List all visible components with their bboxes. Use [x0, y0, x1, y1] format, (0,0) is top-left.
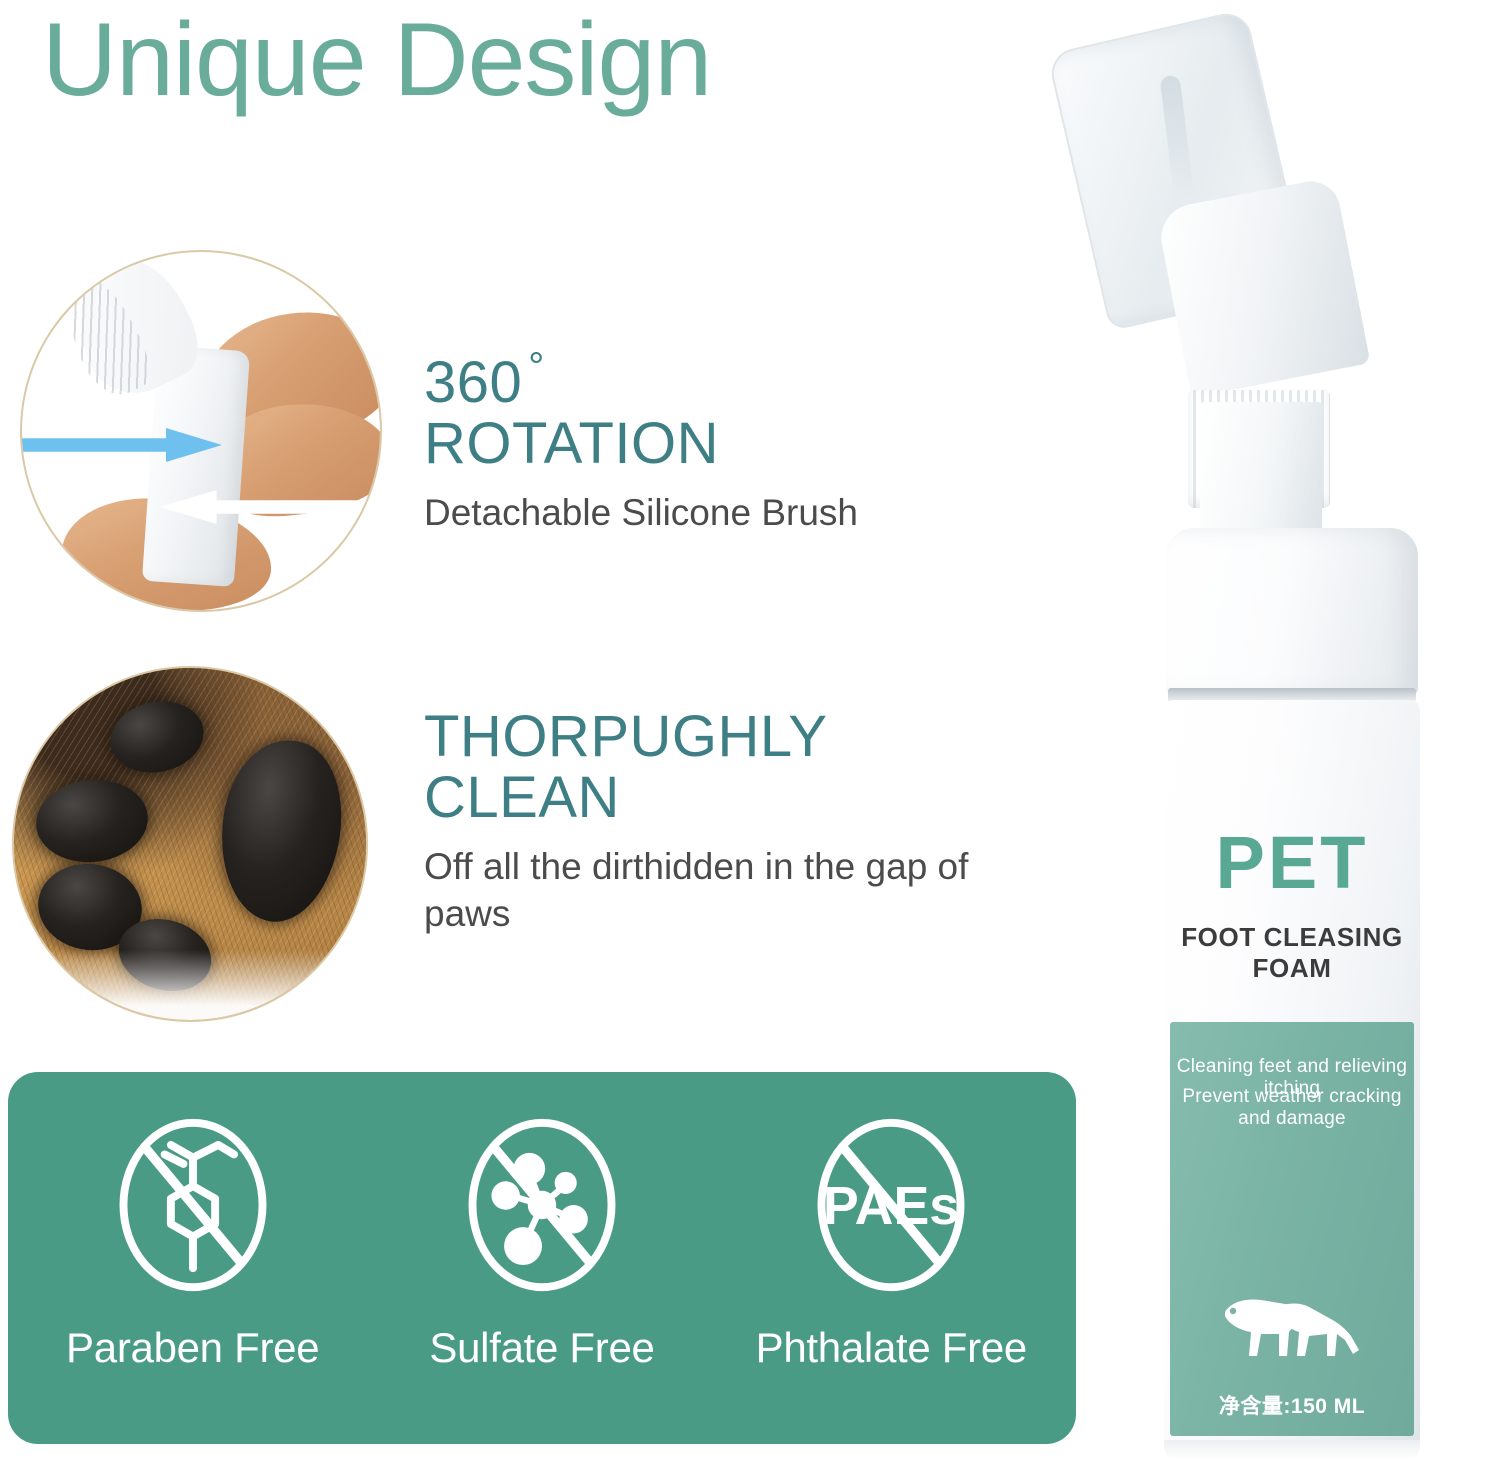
page-title: Unique Design	[42, 8, 711, 112]
no-paes-phthalate-icon: PAEs	[812, 1116, 970, 1294]
no-paraben-icon	[114, 1116, 272, 1294]
feature-rotation-title-line-1: 360	[424, 350, 522, 415]
claim-phthalate-free: PAEs Phthalate Free	[717, 1072, 1066, 1444]
product-bottle: PET FOOT CLEASING FOAM Cleaning feet and…	[1060, 16, 1500, 1460]
no-sulfate-molecule-icon	[463, 1116, 621, 1294]
brand-name: PET	[1164, 820, 1420, 905]
product-marketing-image: Unique Design 360° ROTATION Detachable S…	[0, 0, 1500, 1460]
feature-rotation-title: 360° ROTATION	[424, 346, 1044, 475]
feature-clean: THORPUGHLY CLEAN Off all the dirthidden …	[424, 706, 1044, 938]
brand-subtitle: FOOT CLEASING FOAM	[1164, 922, 1420, 984]
claim-sulfate-free: Sulfate Free	[367, 1072, 716, 1444]
dog-and-cat-silhouette-icon	[1217, 1284, 1367, 1364]
bottle-base	[1164, 1440, 1420, 1460]
feature-rotation: 360° ROTATION Detachable Silicone Brush	[424, 346, 1044, 536]
paw-photo-fade	[14, 950, 366, 1020]
claim-sulfate-free-label: Sulfate Free	[429, 1324, 654, 1372]
feature-clean-title-line-1: THORPUGHLY	[424, 704, 828, 769]
hand-holding-silicone-brush-photo	[22, 252, 380, 610]
feature-clean-description: Off all the dirthidden in the gap of paw…	[424, 843, 1044, 938]
feature-clean-title: THORPUGHLY CLEAN	[424, 706, 1044, 829]
feature-clean-title-line-2: CLEAN	[424, 765, 620, 830]
claim-phthalate-free-label: Phthalate Free	[756, 1324, 1027, 1372]
claim-paraben-free-label: Paraben Free	[66, 1324, 319, 1372]
feature-rotation-title-line-2: ROTATION	[424, 411, 719, 476]
bottle-label: Cleaning feet and relieving itching Prev…	[1170, 1022, 1414, 1436]
dog-paw-closeup-photo	[14, 668, 366, 1020]
feature-rotation-description: Detachable Silicone Brush	[424, 489, 1044, 536]
label-benefit-line-2: Prevent weather cracking and damage	[1170, 1086, 1414, 1130]
net-volume: 净含量:150 ML	[1170, 1390, 1414, 1420]
bottle-body: PET FOOT CLEASING FOAM Cleaning feet and…	[1164, 700, 1420, 1460]
cap-shoulder	[1156, 176, 1371, 397]
claim-paraben-free: Paraben Free	[18, 1072, 367, 1444]
pump-cap	[1166, 528, 1418, 696]
claims-banner: Paraben Free	[8, 1072, 1076, 1444]
degree-symbol-icon: °	[528, 345, 545, 389]
pump-neck	[1200, 402, 1322, 532]
